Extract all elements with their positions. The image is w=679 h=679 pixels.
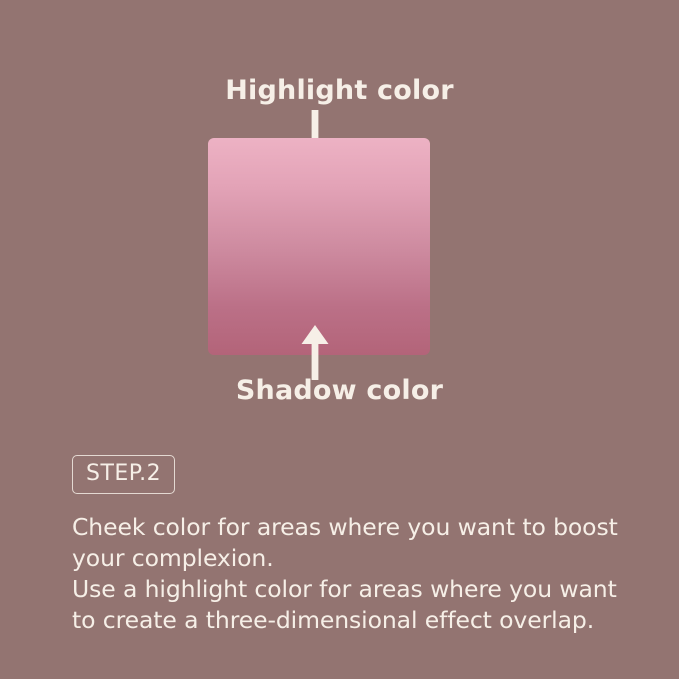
- shadow-color-label: Shadow color: [0, 375, 679, 406]
- step-badge: STEP.2: [72, 455, 175, 494]
- arrow-up-icon: [296, 325, 334, 380]
- instruction-line-1: Cheek color for areas where you want to …: [72, 512, 642, 574]
- highlight-color-label: Highlight color: [0, 75, 679, 106]
- color-diagram: Highlight color Shadow color: [0, 0, 679, 430]
- instruction-text: Cheek color for areas where you want to …: [72, 512, 642, 636]
- instruction-copy-block: STEP.2 Cheek color for areas where you w…: [72, 455, 642, 636]
- gradient-color-swatch: [208, 138, 430, 355]
- instruction-card: Highlight color Shadow color STEP.2 Chee…: [0, 0, 679, 679]
- instruction-line-2: Use a highlight color for areas where yo…: [72, 574, 642, 636]
